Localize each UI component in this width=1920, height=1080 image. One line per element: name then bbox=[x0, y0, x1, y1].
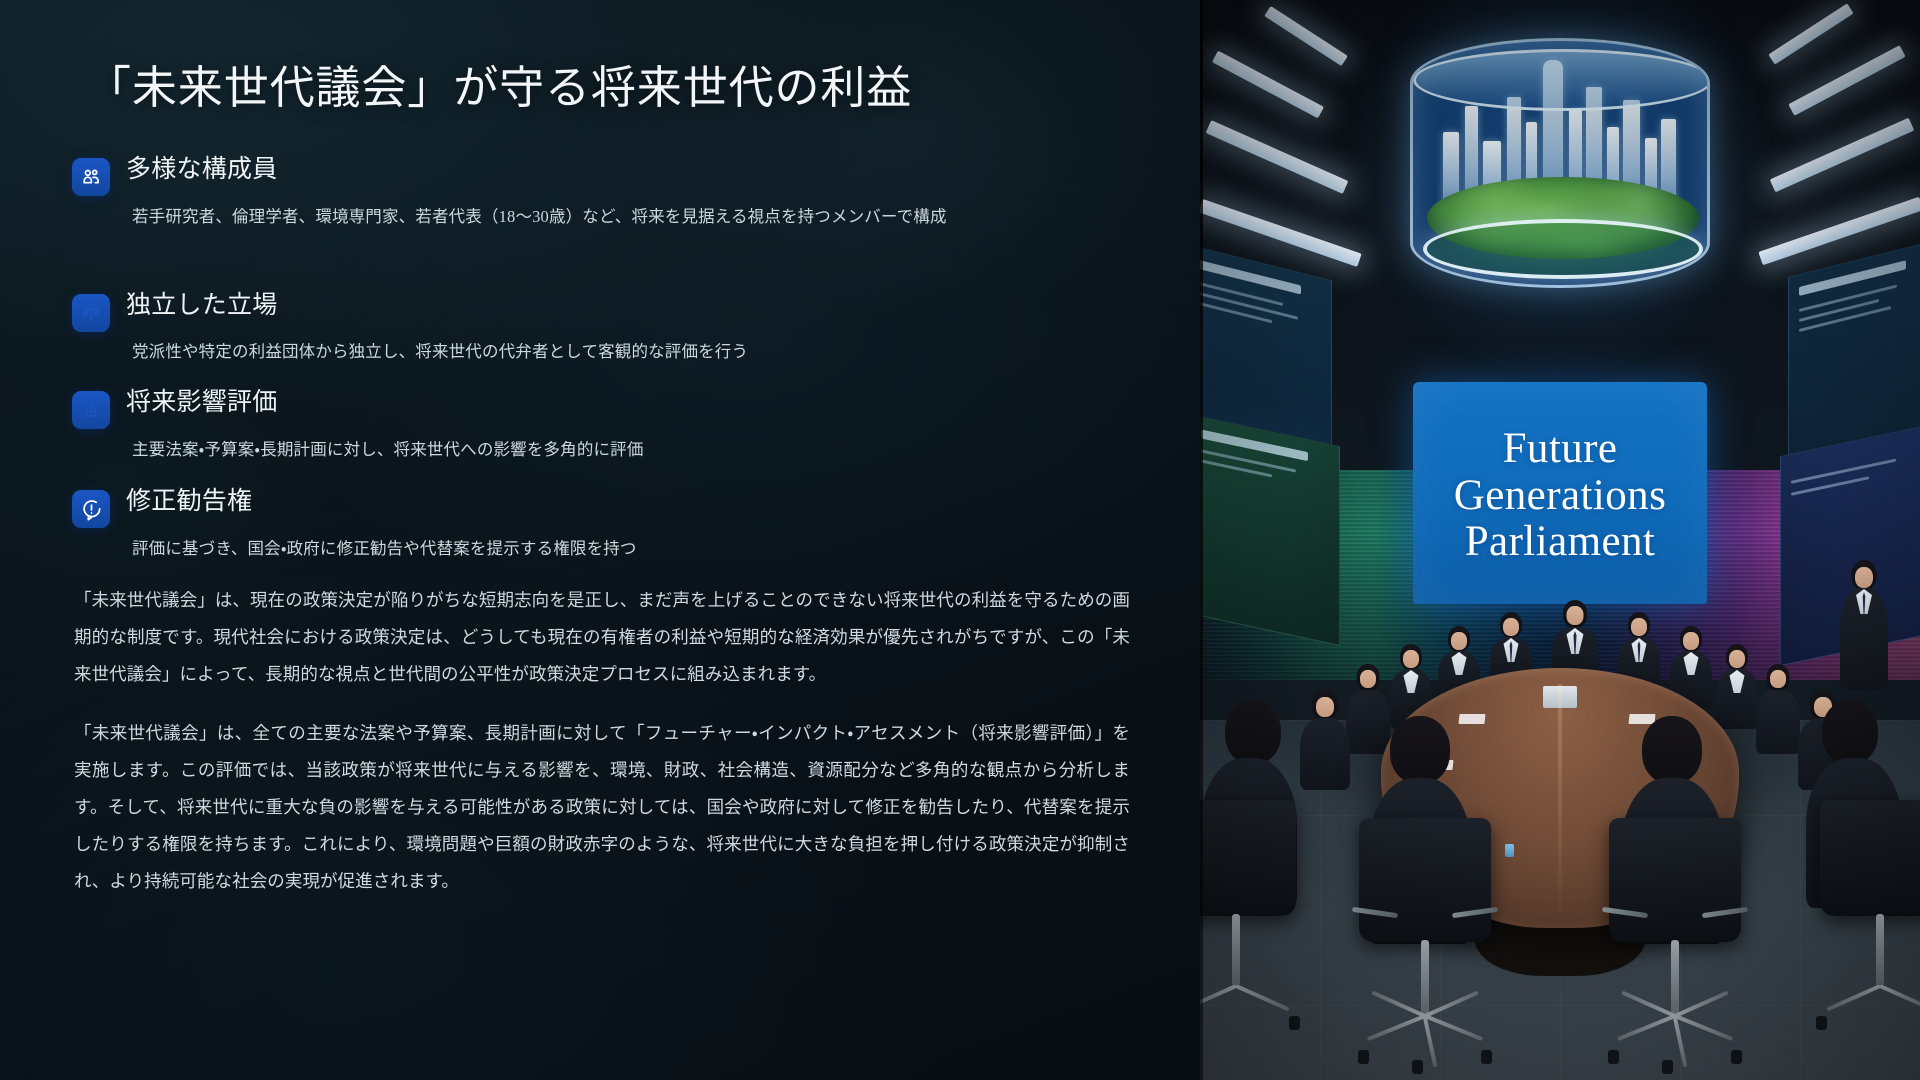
chart-icon bbox=[72, 391, 110, 429]
feature-description: 主要法案・予算案・長期計画に対し、将来世代への影響を多角的に評価 bbox=[132, 436, 1130, 465]
laptop-on-table bbox=[1543, 686, 1577, 708]
person-seated bbox=[1300, 690, 1350, 790]
feature-title: 将来影響評価 bbox=[126, 387, 1130, 420]
office-chair bbox=[1200, 800, 1306, 1050]
display-text-line bbox=[1791, 458, 1896, 483]
screen-title-line-1: Future bbox=[1503, 427, 1618, 472]
ceiling-light bbox=[1770, 118, 1915, 193]
feature-item-independence: 独立した立場 党派性や特定の利益団体から独立し、将来世代の代弁者として客観的な評… bbox=[72, 290, 1130, 367]
feature-body: 将来影響評価 主要法案・予算案・長期計画に対し、将来世代への影響を多角的に評価 bbox=[126, 387, 1130, 464]
feature-item-future-impact: 将来影響評価 主要法案・予算案・長期計画に対し、将来世代への影響を多角的に評価 bbox=[72, 387, 1130, 464]
display-text-line bbox=[1200, 302, 1272, 324]
conference-room-scene: Future Generations Parliament bbox=[1200, 0, 1920, 1080]
hologram-projection bbox=[1410, 18, 1710, 318]
alert-message-icon bbox=[72, 490, 110, 528]
feature-title: 多様な構成員 bbox=[126, 154, 1130, 187]
balance-icon bbox=[72, 294, 110, 332]
main-presentation-screen: Future Generations Parliament bbox=[1413, 382, 1707, 604]
slide-root: 「未来世代議会」が守る将来世代の利益 多様な構成員 若手研究者、倫理学者、環境専… bbox=[0, 0, 1920, 1080]
cup-on-table bbox=[1505, 844, 1514, 857]
screen-title-line-3: Parliament bbox=[1465, 520, 1656, 565]
feature-item-amendment-authority: 修正勧告権 評価に基づき、国会・政府に修正勧告や代替案を提示する権限を持つ bbox=[72, 486, 1130, 563]
person-seated bbox=[1756, 664, 1800, 754]
ceiling-light bbox=[1264, 6, 1348, 66]
feature-title: 修正勧告権 bbox=[126, 486, 1130, 519]
person-standing bbox=[1840, 560, 1888, 690]
ceiling-light bbox=[1768, 3, 1853, 64]
wall-display-left-lower bbox=[1200, 414, 1340, 646]
hologram-top-ring bbox=[1413, 49, 1710, 111]
feature-description: 評価に基づき、国会・政府に修正勧告や代替案を提示する権限を持つ bbox=[132, 535, 1130, 564]
office-chair bbox=[1600, 818, 1750, 1068]
body-text-block: 「未来世代議会」は、現在の政策決定が陥りがちな短期志向を是正し、まだ声を上げるこ… bbox=[74, 582, 1130, 901]
feature-title: 独立した立場 bbox=[126, 290, 1130, 323]
screen-title-line-2: Generations bbox=[1454, 474, 1667, 519]
feature-body: 独立した立場 党派性や特定の利益団体から独立し、将来世代の代弁者として客観的な評… bbox=[126, 290, 1130, 367]
ceiling-light bbox=[1206, 120, 1349, 194]
users-icon bbox=[72, 158, 110, 196]
body-paragraph-1: 「未来世代議会」は、現在の政策決定が陥りがちな短期志向を是正し、まだ声を上げるこ… bbox=[74, 582, 1130, 693]
feature-list: 多様な構成員 若手研究者、倫理学者、環境専門家、若者代表（18〜30歳）など、将… bbox=[72, 154, 1130, 564]
ceiling-light bbox=[1212, 51, 1324, 119]
feature-body: 修正勧告権 評価に基づき、国会・政府に修正勧告や代替案を提示する権限を持つ bbox=[126, 486, 1130, 563]
panel-divider bbox=[1200, 0, 1203, 1080]
office-chair bbox=[1810, 800, 1920, 1050]
hologram-base-ring bbox=[1423, 219, 1703, 279]
feature-description: 若手研究者、倫理学者、環境専門家、若者代表（18〜30歳）など、将来を見据える視… bbox=[132, 203, 1130, 232]
body-paragraph-2: 「未来世代議会」は、全ての主要な法案や予算案、長期計画に対して「フューチャー・イ… bbox=[74, 715, 1130, 900]
page-title: 「未来世代議会」が守る将来世代の利益 bbox=[86, 60, 1130, 116]
office-chair bbox=[1350, 818, 1500, 1068]
feature-item-diverse-members: 多様な構成員 若手研究者、倫理学者、環境専門家、若者代表（18〜30歳）など、将… bbox=[72, 154, 1130, 231]
ceiling-light bbox=[1788, 45, 1905, 116]
feature-body: 多様な構成員 若手研究者、倫理学者、環境専門家、若者代表（18〜30歳）など、将… bbox=[126, 154, 1130, 231]
photo-panel: Future Generations Parliament bbox=[1200, 0, 1920, 1080]
content-panel: 「未来世代議会」が守る将来世代の利益 多様な構成員 若手研究者、倫理学者、環境専… bbox=[0, 0, 1200, 1080]
feature-description: 党派性や特定の利益団体から独立し、将来世代の代弁者として客観的な評価を行う bbox=[132, 338, 1130, 367]
hologram-cylinder bbox=[1410, 38, 1710, 288]
